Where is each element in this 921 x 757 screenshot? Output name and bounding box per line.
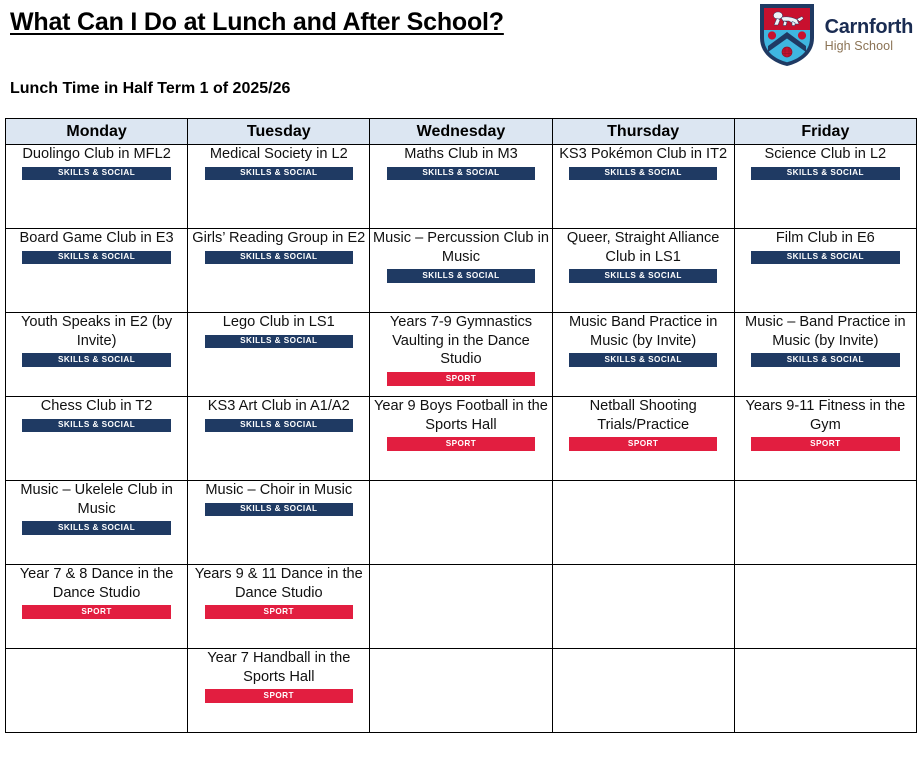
activity-name: Queer, Straight Alliance Club in LS1 — [553, 229, 734, 266]
category-badge-skills: SKILLS & SOCIAL — [387, 269, 536, 283]
category-badge-skills: SKILLS & SOCIAL — [22, 521, 171, 535]
activity-name: Youth Speaks in E2 (by Invite) — [6, 313, 187, 350]
category-badge-skills: SKILLS & SOCIAL — [751, 353, 900, 367]
category-badge-skills: SKILLS & SOCIAL — [205, 251, 354, 265]
activity-cell-tuesday-5: Music – Choir in MusicSKILLS & SOCIAL — [188, 481, 370, 565]
category-badge-skills: SKILLS & SOCIAL — [569, 353, 718, 367]
category-badge-sport: SPORT — [22, 605, 171, 619]
category-badge-skills: SKILLS & SOCIAL — [205, 335, 354, 349]
column-header-tuesday: Tuesday — [188, 119, 370, 145]
activity-cell-tuesday-1: Medical Society in L2SKILLS & SOCIAL — [188, 145, 370, 229]
activity-name: KS3 Pokémon Club in IT2 — [553, 145, 734, 164]
category-badge-skills: SKILLS & SOCIAL — [205, 503, 354, 517]
category-badge-sport: SPORT — [569, 437, 718, 451]
table-header-row: Monday Tuesday Wednesday Thursday Friday — [6, 119, 917, 145]
activity-cell-wednesday-4: Year 9 Boys Football in the Sports HallS… — [370, 397, 552, 481]
category-badge-sport: SPORT — [205, 689, 354, 703]
activity-cell-monday-5: Music – Ukelele Club in MusicSKILLS & SO… — [6, 481, 188, 565]
category-badge-skills: SKILLS & SOCIAL — [22, 251, 171, 265]
activity-cell-wednesday-7 — [370, 649, 552, 733]
column-header-friday: Friday — [734, 119, 916, 145]
activity-name: Music – Band Practice in Music (by Invit… — [735, 313, 916, 350]
activity-cell-thursday-3: Music Band Practice in Music (by Invite)… — [552, 313, 734, 397]
activity-name: Music Band Practice in Music (by Invite) — [553, 313, 734, 350]
activity-cell-monday-2: Board Game Club in E3SKILLS & SOCIAL — [6, 229, 188, 313]
activity-name: Chess Club in T2 — [6, 397, 187, 416]
activity-name: Board Game Club in E3 — [6, 229, 187, 248]
table-row: Chess Club in T2SKILLS & SOCIALKS3 Art C… — [6, 397, 917, 481]
activity-cell-friday-4: Years 9-11 Fitness in the GymSPORT — [734, 397, 916, 481]
activity-cell-thursday-1: KS3 Pokémon Club in IT2SKILLS & SOCIAL — [552, 145, 734, 229]
activity-name: Medical Society in L2 — [188, 145, 369, 164]
activity-cell-friday-3: Music – Band Practice in Music (by Invit… — [734, 313, 916, 397]
category-badge-skills: SKILLS & SOCIAL — [22, 353, 171, 367]
table-row: Youth Speaks in E2 (by Invite)SKILLS & S… — [6, 313, 917, 397]
page-title: What Can I Do at Lunch and After School? — [10, 8, 504, 37]
activities-timetable-page: What Can I Do at Lunch and After School?… — [0, 0, 921, 757]
category-badge-skills: SKILLS & SOCIAL — [22, 167, 171, 181]
activity-name: Music – Percussion Club in Music — [370, 229, 551, 266]
category-badge-sport: SPORT — [751, 437, 900, 451]
table-row: Music – Ukelele Club in MusicSKILLS & SO… — [6, 481, 917, 565]
activity-name: Year 7 Handball in the Sports Hall — [188, 649, 369, 686]
activity-name: Year 9 Boys Football in the Sports Hall — [370, 397, 551, 434]
category-badge-skills: SKILLS & SOCIAL — [751, 167, 900, 181]
activity-name: Netball Shooting Trials/Practice — [553, 397, 734, 434]
category-badge-sport: SPORT — [387, 437, 536, 451]
category-badge-sport: SPORT — [205, 605, 354, 619]
activity-cell-tuesday-7: Year 7 Handball in the Sports HallSPORT — [188, 649, 370, 733]
table-row: Duolingo Club in MFL2SKILLS & SOCIALMedi… — [6, 145, 917, 229]
activity-cell-friday-6 — [734, 565, 916, 649]
school-crest-icon — [758, 2, 816, 68]
activity-name: Music – Ukelele Club in Music — [6, 481, 187, 518]
activity-cell-monday-3: Youth Speaks in E2 (by Invite)SKILLS & S… — [6, 313, 188, 397]
category-badge-skills: SKILLS & SOCIAL — [22, 419, 171, 433]
column-header-monday: Monday — [6, 119, 188, 145]
category-badge-skills: SKILLS & SOCIAL — [205, 419, 354, 433]
activity-name: Music – Choir in Music — [188, 481, 369, 500]
activity-name: Year 7 & 8 Dance in the Dance Studio — [6, 565, 187, 602]
activity-cell-monday-6: Year 7 & 8 Dance in the Dance StudioSPOR… — [6, 565, 188, 649]
activity-name: Science Club in L2 — [735, 145, 916, 164]
logo-school-name: Carnforth — [825, 17, 913, 37]
table-row: Board Game Club in E3SKILLS & SOCIALGirl… — [6, 229, 917, 313]
activity-cell-wednesday-3: Years 7-9 Gymnastics Vaulting in the Dan… — [370, 313, 552, 397]
category-badge-skills: SKILLS & SOCIAL — [205, 167, 354, 181]
column-header-thursday: Thursday — [552, 119, 734, 145]
activity-cell-tuesday-6: Years 9 & 11 Dance in the Dance StudioSP… — [188, 565, 370, 649]
activity-cell-tuesday-4: KS3 Art Club in A1/A2SKILLS & SOCIAL — [188, 397, 370, 481]
activity-cell-monday-4: Chess Club in T2SKILLS & SOCIAL — [6, 397, 188, 481]
activity-cell-thursday-7 — [552, 649, 734, 733]
page-header: What Can I Do at Lunch and After School?… — [0, 0, 921, 110]
activity-cell-tuesday-2: Girls’ Reading Group in E2SKILLS & SOCIA… — [188, 229, 370, 313]
table-row: Year 7 & 8 Dance in the Dance StudioSPOR… — [6, 565, 917, 649]
activity-cell-wednesday-1: Maths Club in M3SKILLS & SOCIAL — [370, 145, 552, 229]
activity-cell-thursday-5 — [552, 481, 734, 565]
activity-name: Film Club in E6 — [735, 229, 916, 248]
activities-table: Monday Tuesday Wednesday Thursday Friday… — [5, 118, 917, 733]
activity-cell-thursday-2: Queer, Straight Alliance Club in LS1SKIL… — [552, 229, 734, 313]
activity-cell-friday-1: Science Club in L2SKILLS & SOCIAL — [734, 145, 916, 229]
category-badge-skills: SKILLS & SOCIAL — [569, 167, 718, 181]
activity-name: Duolingo Club in MFL2 — [6, 145, 187, 164]
activity-name: Years 7-9 Gymnastics Vaulting in the Dan… — [370, 313, 551, 369]
activity-cell-wednesday-2: Music – Percussion Club in MusicSKILLS &… — [370, 229, 552, 313]
category-badge-skills: SKILLS & SOCIAL — [751, 251, 900, 265]
activity-cell-wednesday-6 — [370, 565, 552, 649]
logo-school-sub: High School — [825, 40, 913, 53]
logo-wordmark: Carnforth High School — [825, 17, 913, 53]
category-badge-sport: SPORT — [387, 372, 536, 386]
activity-cell-friday-7 — [734, 649, 916, 733]
school-logo: Carnforth High School — [758, 2, 913, 68]
activity-name: Years 9 & 11 Dance in the Dance Studio — [188, 565, 369, 602]
column-header-wednesday: Wednesday — [370, 119, 552, 145]
activity-name: Girls’ Reading Group in E2 — [188, 229, 369, 248]
activity-cell-tuesday-3: Lego Club in LS1SKILLS & SOCIAL — [188, 313, 370, 397]
activity-name: KS3 Art Club in A1/A2 — [188, 397, 369, 416]
table-row: Year 7 Handball in the Sports HallSPORT — [6, 649, 917, 733]
activity-cell-wednesday-5 — [370, 481, 552, 565]
table-body: Duolingo Club in MFL2SKILLS & SOCIALMedi… — [6, 145, 917, 733]
activity-cell-thursday-6 — [552, 565, 734, 649]
activity-name: Years 9-11 Fitness in the Gym — [735, 397, 916, 434]
activity-cell-monday-7 — [6, 649, 188, 733]
activity-cell-monday-1: Duolingo Club in MFL2SKILLS & SOCIAL — [6, 145, 188, 229]
activity-cell-thursday-4: Netball Shooting Trials/PracticeSPORT — [552, 397, 734, 481]
category-badge-skills: SKILLS & SOCIAL — [387, 167, 536, 181]
page-subtitle: Lunch Time in Half Term 1 of 2025/26 — [10, 80, 290, 98]
activity-name: Lego Club in LS1 — [188, 313, 369, 332]
activity-cell-friday-2: Film Club in E6SKILLS & SOCIAL — [734, 229, 916, 313]
activity-cell-friday-5 — [734, 481, 916, 565]
activity-name: Maths Club in M3 — [370, 145, 551, 164]
category-badge-skills: SKILLS & SOCIAL — [569, 269, 718, 283]
